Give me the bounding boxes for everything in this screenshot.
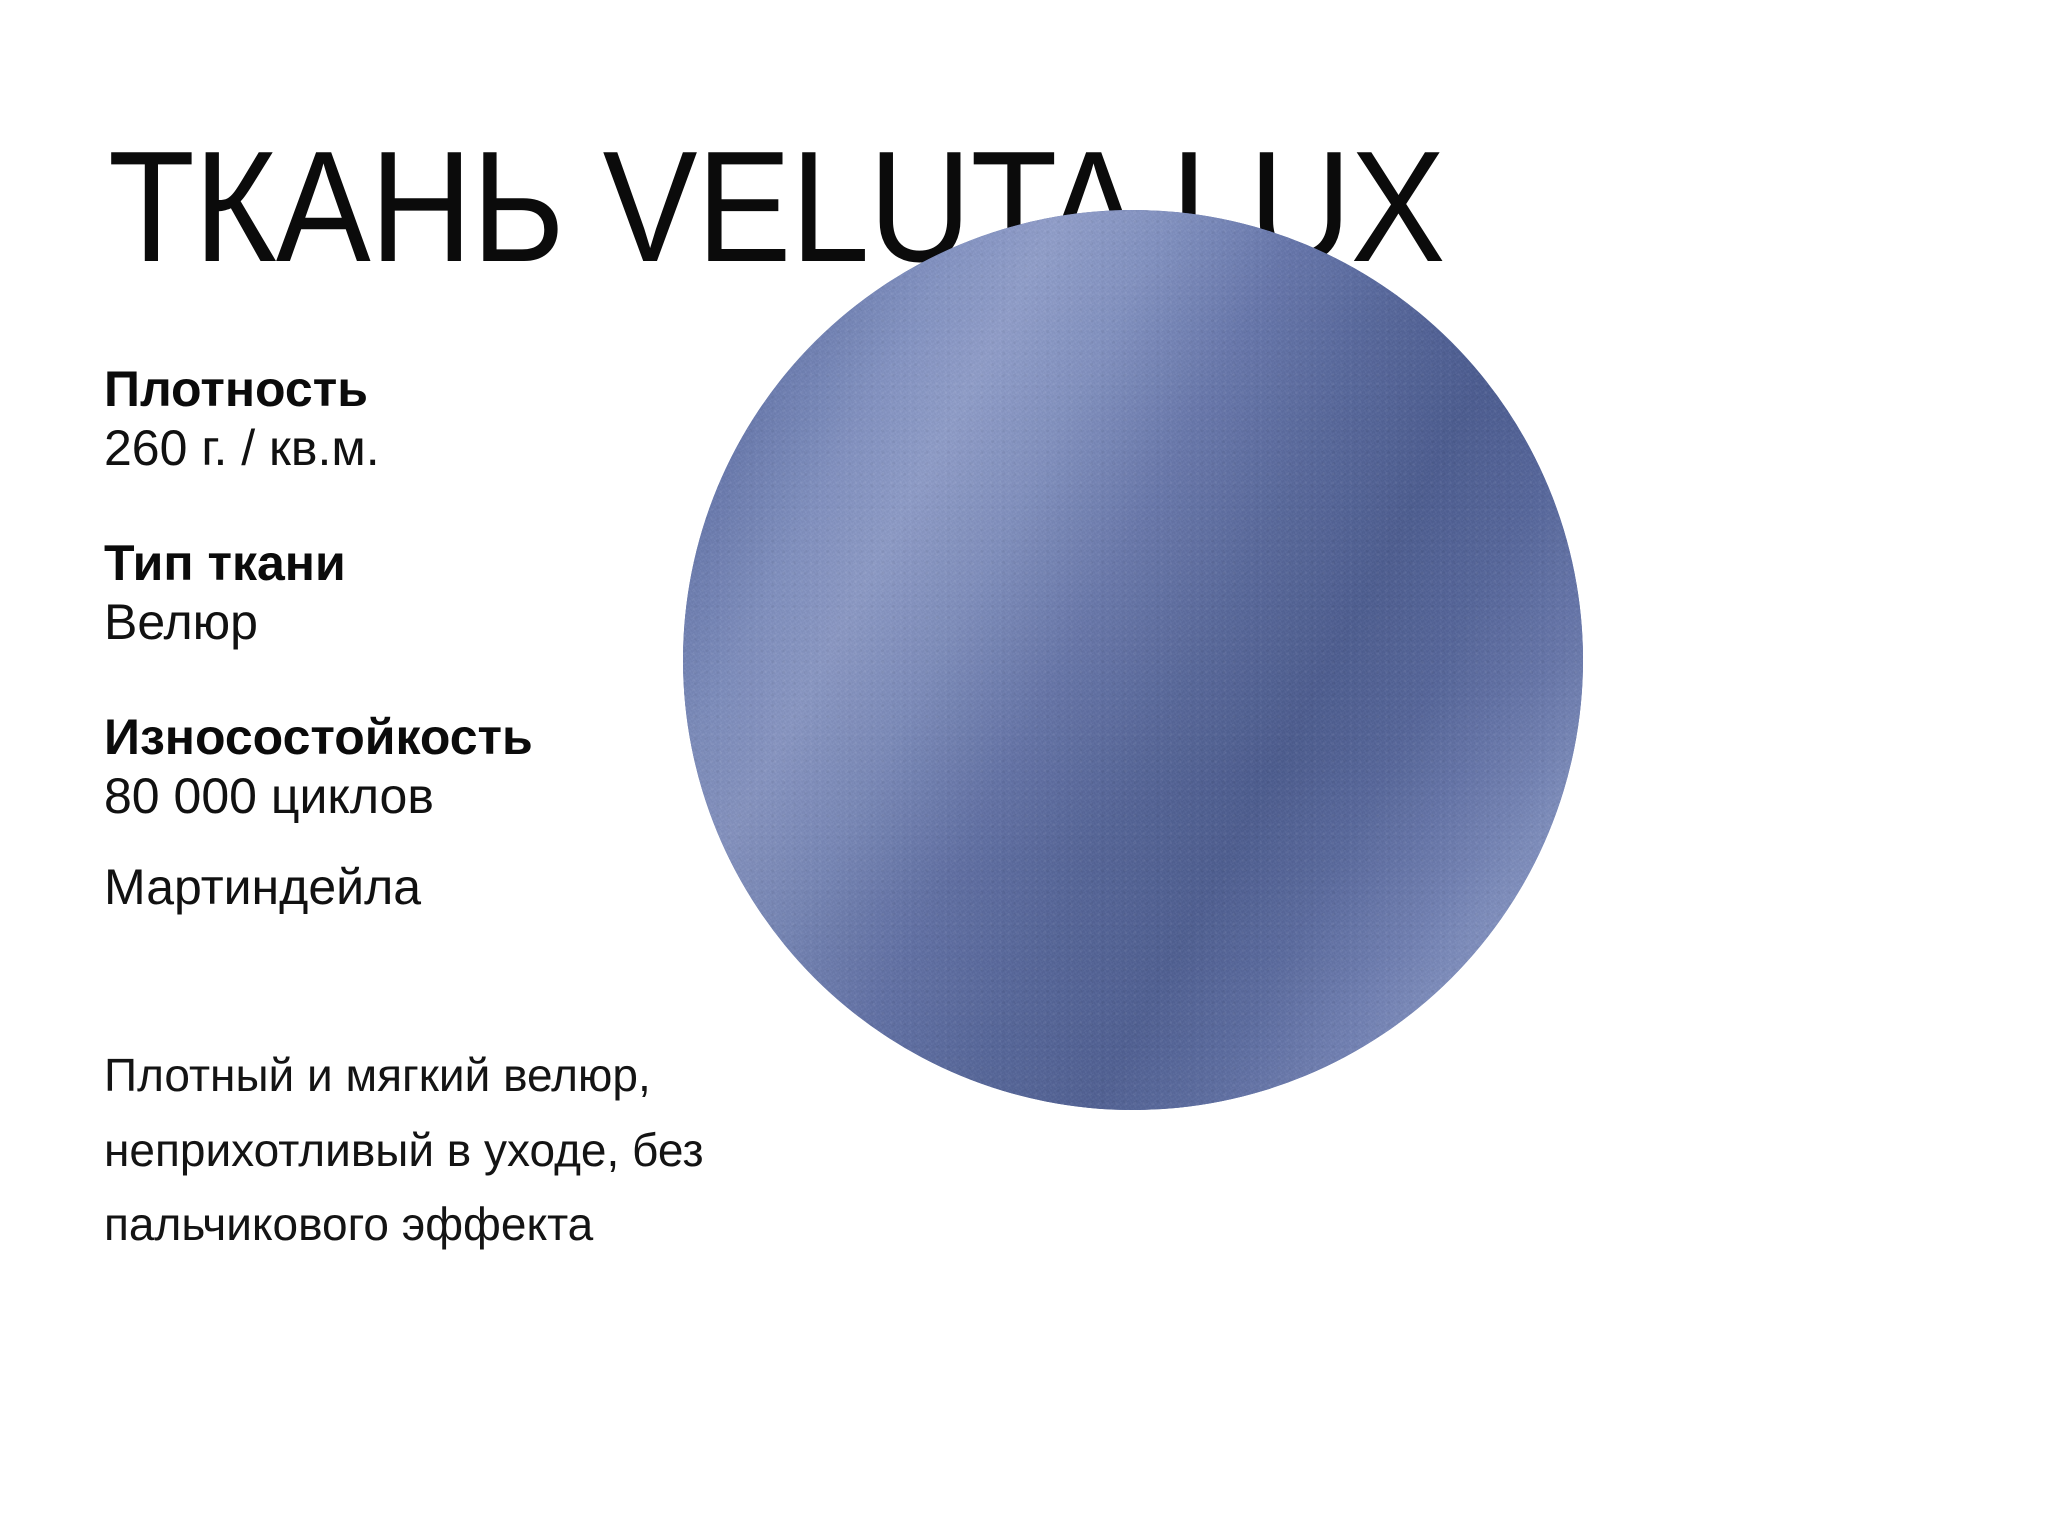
- fabric-info-card: ТКАНЬ VELUTA LUX Плотность 260 г. / кв.м…: [0, 0, 2048, 1536]
- fabric-vignette: [683, 210, 1583, 1110]
- fabric-swatch-circle: [683, 210, 1583, 1110]
